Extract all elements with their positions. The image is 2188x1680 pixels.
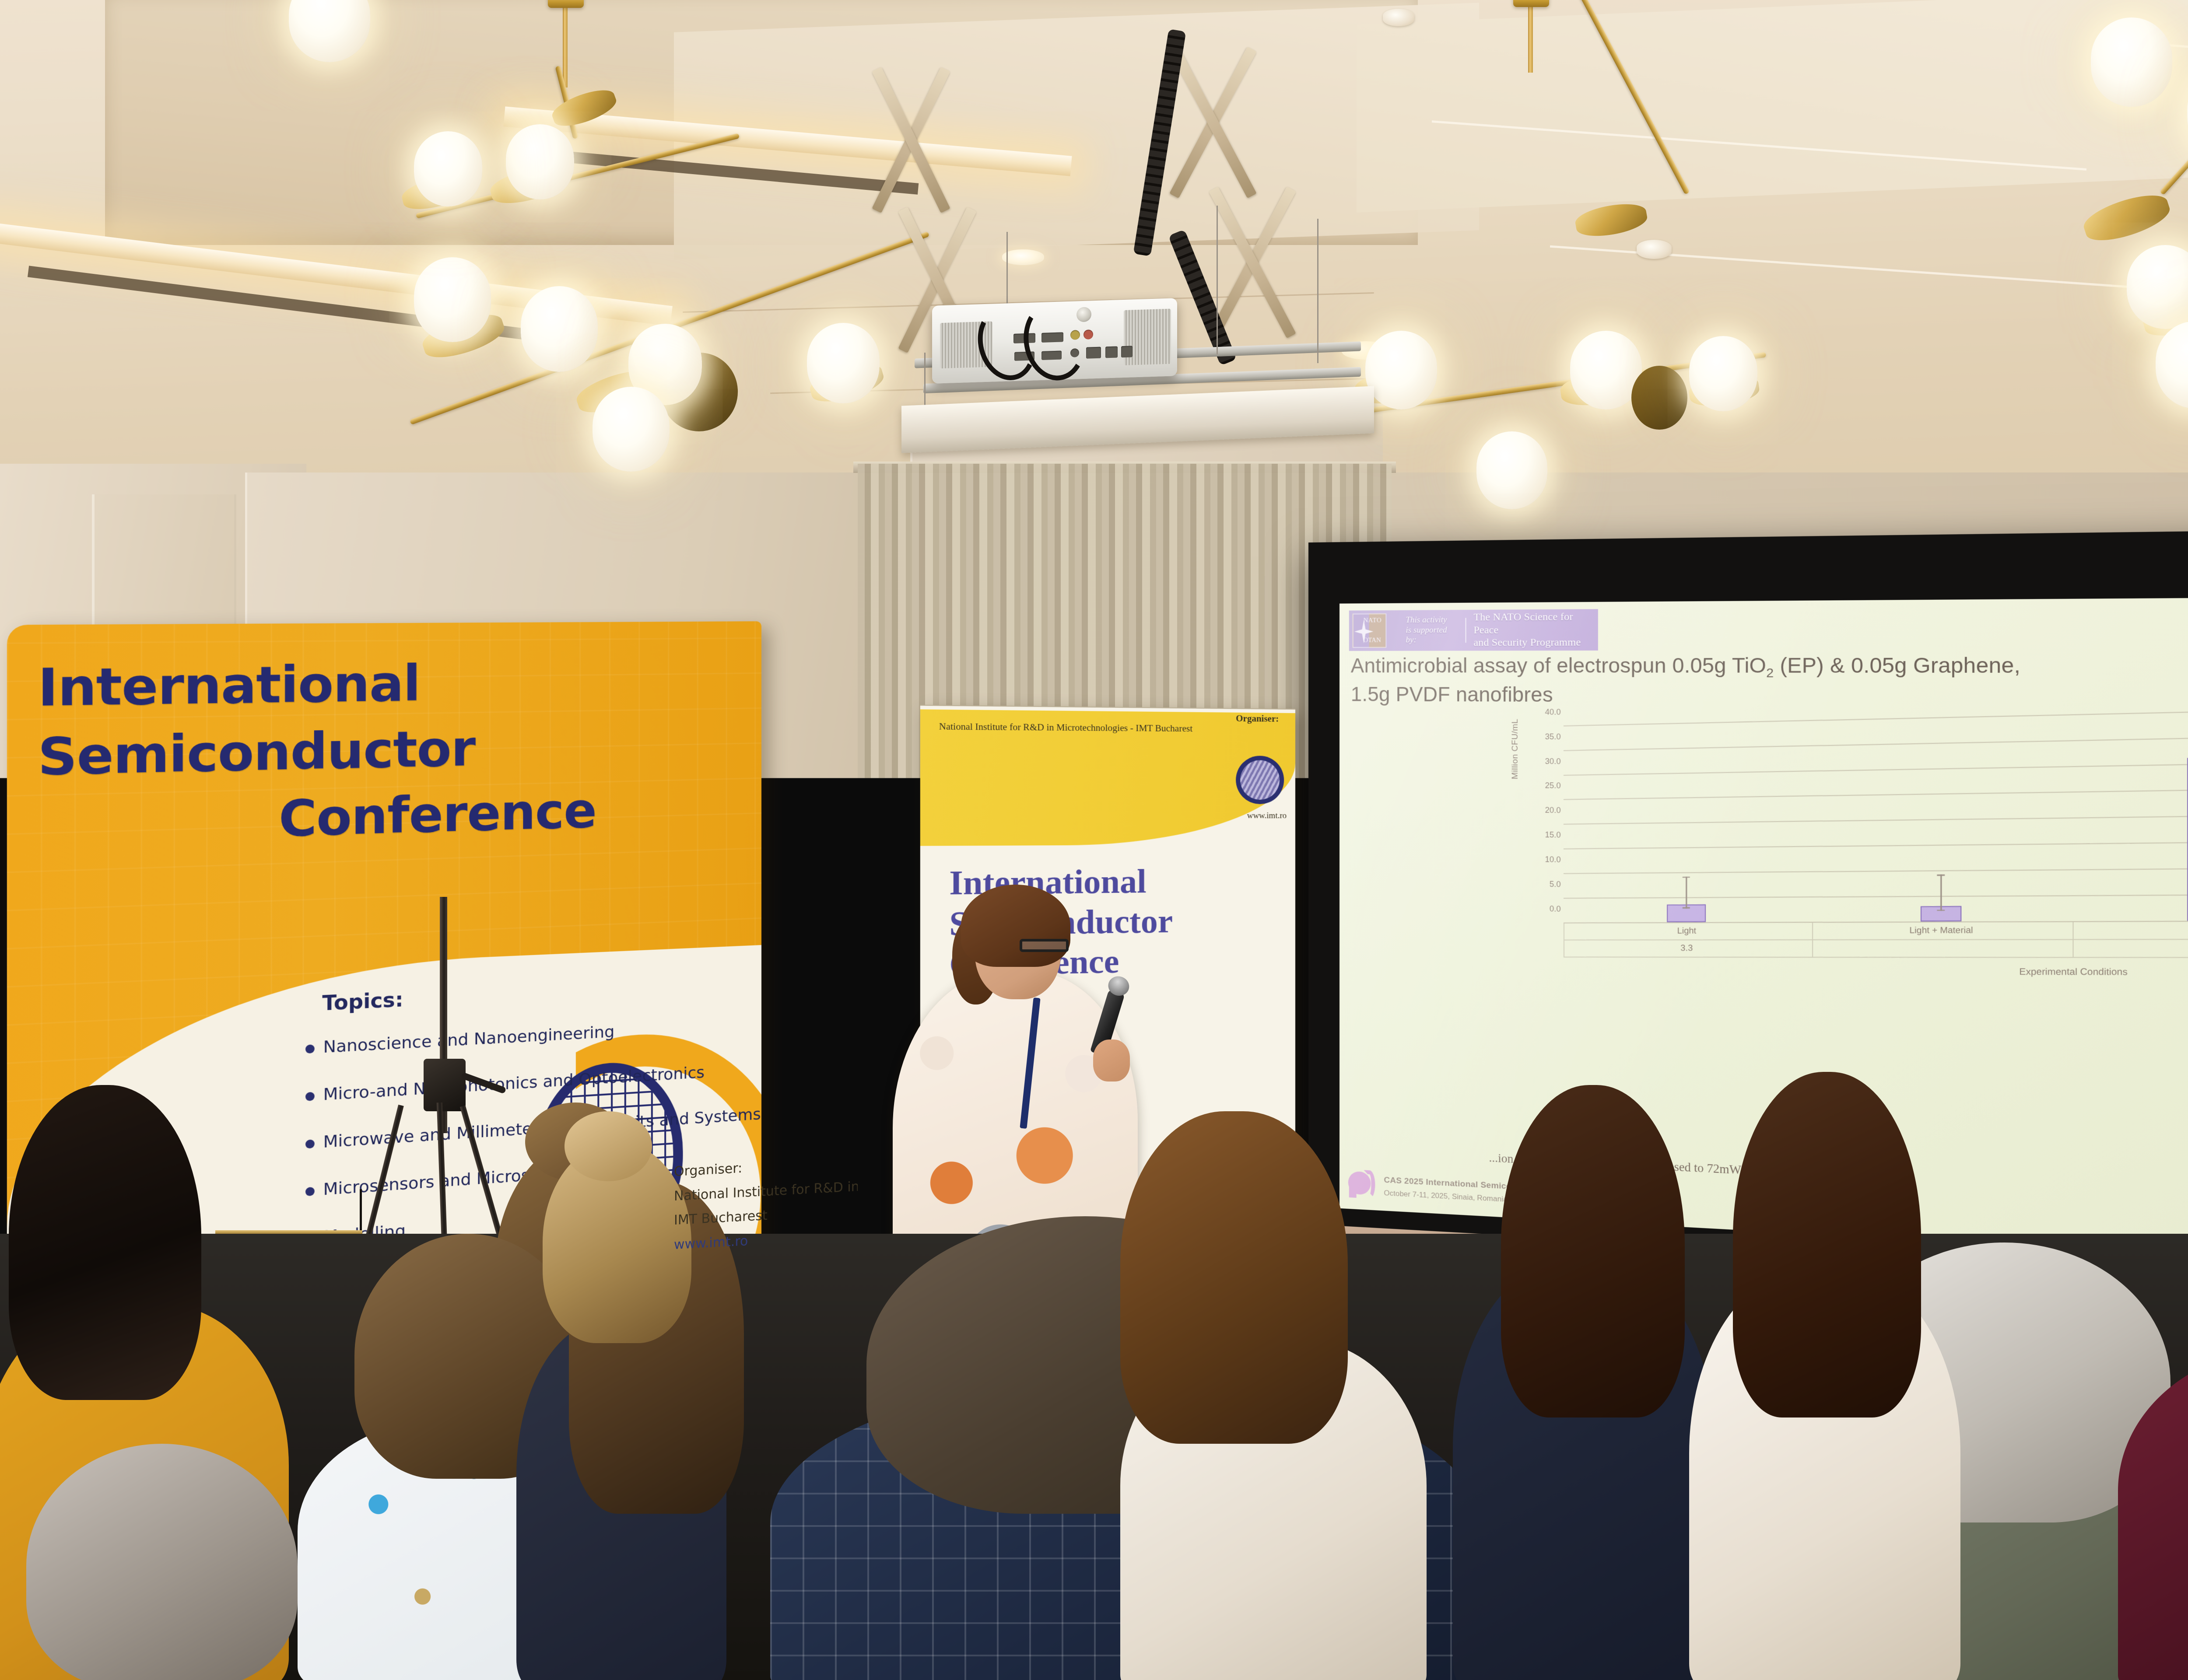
light-bulb — [593, 387, 670, 472]
slide-title-part2: (EP) & 0.05g Graphene, — [1774, 653, 2020, 678]
y-tick-label: 15.0 — [1545, 830, 1561, 840]
topic-label: Micro-and Nanophotonics and Optoelectron… — [323, 1064, 705, 1104]
audience-hair — [1733, 1072, 1921, 1417]
category-value-row: 3.3 29.0 23.8 — [1564, 939, 2188, 958]
divider — [1466, 618, 1466, 643]
light-bulb — [1689, 336, 1757, 411]
y-tick-label: 35.0 — [1545, 732, 1561, 742]
slide-title: Antimicrobial assay of electrospun 0.05g… — [1351, 651, 2188, 712]
banner-title-line1: International Semiconductor — [38, 655, 475, 787]
light-bulb — [807, 323, 880, 403]
nato-support-text: This activity is supported by: — [1406, 616, 1458, 646]
cat-ear — [1349, 1186, 1357, 1198]
nato-support-line1: This activity — [1406, 616, 1458, 626]
light-bulb — [1476, 431, 1547, 509]
category-header-row: Light Light + Material Dark Dark + Mater… — [1564, 920, 2188, 940]
lift-wire — [1317, 219, 1318, 363]
value-label: 29.0 — [2074, 940, 2188, 958]
chart-y-axis-label: Million CFU/mL — [1511, 663, 1521, 780]
nato-programme-line1: The NATO Science for Peace — [1473, 610, 1598, 637]
lift-wire — [1217, 206, 1218, 354]
presenter-hand — [1093, 1039, 1130, 1081]
bar-light-material — [1921, 906, 1961, 921]
nato-sponsor-banner: NATO OTAN This activity is supported by:… — [1349, 609, 1598, 651]
cat-tail — [1364, 1170, 1375, 1199]
smoke-detector-icon — [1637, 240, 1672, 259]
cat-logo-icon — [1348, 1169, 1378, 1203]
bar-light — [1667, 904, 1706, 922]
organiser-label: Organiser: — [1236, 713, 1279, 725]
chart-y-ticks: 40.0 35.0 30.0 25.0 20.0 15.0 10.0 5.0 0… — [1531, 708, 1561, 909]
smoke-detector-icon — [1383, 9, 1414, 26]
bar-chart: Million CFU/mL 40.0 35.0 30.0 25.0 20.0 … — [1516, 708, 2188, 990]
banner-url: www.imt.ro — [1247, 811, 1287, 821]
category-label: Dark — [2074, 921, 2188, 940]
banner-organiser-secondary: Organiser: National Institute for R&D in… — [674, 1150, 858, 1257]
chart-plot-area — [1564, 697, 2188, 923]
audience-hair — [1120, 1111, 1348, 1444]
projector-usb-port — [1121, 346, 1133, 357]
category-label: Light — [1564, 923, 1813, 940]
value-label — [1813, 940, 2074, 958]
bullet-icon — [305, 1187, 315, 1196]
light-bulb — [506, 124, 574, 199]
chart-category-table: Light Light + Material Dark Dark + Mater… — [1564, 920, 2188, 958]
list-item: Micro-and Nanophotonics and Optoelectron… — [305, 1059, 761, 1106]
topics-heading: Topics: — [322, 988, 403, 1015]
y-tick-label: 40.0 — [1545, 707, 1561, 717]
light-bulb — [521, 286, 598, 372]
projector-usb-port — [1105, 346, 1118, 358]
light-bulb — [2091, 17, 2172, 107]
presenter-hair — [961, 885, 1070, 967]
audience-hair — [26, 1444, 298, 1680]
error-bar — [1686, 877, 1687, 909]
y-tick-label: 0.0 — [1550, 904, 1561, 913]
tripod-head — [424, 1059, 466, 1111]
nato-logo-word-bottom: OTAN — [1364, 637, 1385, 644]
banner-title-line2: Conference — [38, 776, 735, 861]
bar-slot — [1564, 716, 1812, 922]
nato-support-line2: is supported by: — [1406, 625, 1458, 645]
banner-title: International Semiconductor Conference — [38, 648, 735, 861]
bullet-icon — [305, 1092, 315, 1101]
nato-logo-word-top: NATO — [1364, 617, 1385, 624]
chandelier-rod — [1528, 0, 1533, 73]
nato-programme-text: The NATO Science for Peace and Security … — [1473, 610, 1598, 649]
chandelier-canopy — [1513, 0, 1549, 7]
banner-organiser-block: Organiser: National Institute for R&D in… — [939, 721, 1282, 735]
ceiling-panel-right — [1357, 0, 2188, 213]
nato-programme-line2: and Security Programme — [1473, 636, 1598, 649]
slide-title-subscript: 2 — [1766, 666, 1774, 681]
slide-title-part1: Antimicrobial assay of electrospun 0.05g… — [1351, 654, 1766, 677]
light-bulb — [1365, 331, 1437, 409]
lift-wire — [924, 353, 926, 409]
bar-slot — [2073, 704, 2188, 921]
slide-title-line2: 1.5g PVDF nanofibres — [1351, 682, 1553, 706]
bar-slot — [1812, 710, 2073, 922]
value-label: 3.3 — [1564, 940, 1813, 958]
category-label: Light + Material — [1813, 922, 2074, 940]
y-tick-label: 5.0 — [1550, 879, 1561, 889]
recessed-downlight — [1002, 249, 1044, 265]
light-bulb — [414, 131, 482, 206]
chandelier-canopy — [548, 0, 584, 8]
audience-hair — [9, 1085, 201, 1400]
imt-logo-icon — [1236, 756, 1284, 804]
error-bar — [1940, 875, 1942, 911]
audience-hair-bun — [565, 1111, 652, 1181]
y-tick-label: 20.0 — [1545, 805, 1561, 815]
chart-bars — [1564, 697, 2188, 923]
conference-room-photo: NATO OTAN This activity is supported by:… — [0, 0, 2188, 1680]
audience-hair — [1501, 1085, 1685, 1417]
organiser-name: National Institute for R&D in Microtechn… — [939, 721, 1192, 734]
equipment-trim — [215, 1230, 362, 1234]
chandelier-rod — [563, 0, 568, 87]
chart-x-axis-label: Experimental Conditions — [1564, 966, 2188, 979]
projector-lan-port — [1086, 347, 1101, 359]
chandelier-disc-dark — [1631, 366, 1687, 430]
y-tick-label: 25.0 — [1545, 781, 1561, 791]
light-bulb — [414, 257, 491, 342]
bullet-icon — [305, 1139, 315, 1148]
presenter-glasses — [1020, 939, 1069, 952]
nato-logo: NATO OTAN — [1353, 613, 1387, 648]
bullet-icon — [305, 1044, 315, 1053]
y-tick-label: 30.0 — [1545, 756, 1561, 766]
y-tick-label: 10.0 — [1545, 855, 1561, 864]
